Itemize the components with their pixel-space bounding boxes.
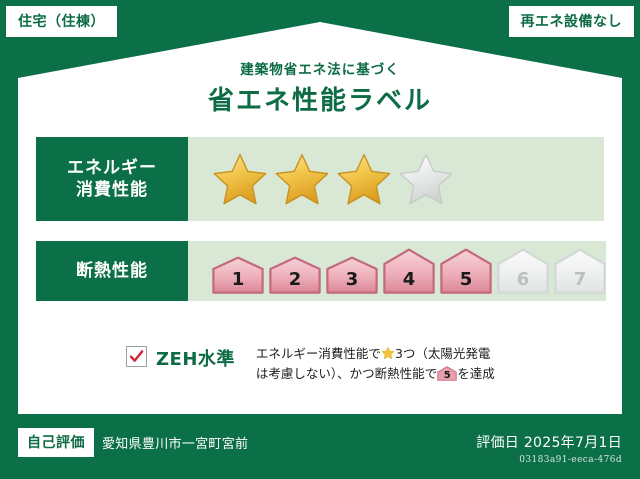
- zeh-desc-part1: エネルギー消費性能で: [256, 346, 381, 361]
- footer-left: 自己評価 愛知県豊川市一宮町宮前: [18, 428, 248, 457]
- energy-performance-label: 住宅（住棟） 再エネ設備なし 建築物省エネ法に基づく 省エネ性能ラベル エネルギ…: [0, 0, 640, 479]
- energy-label-line1: エネルギー: [67, 157, 157, 179]
- inline-badge-number: 5: [437, 371, 457, 381]
- insulation-level-badge: 6: [497, 248, 549, 294]
- insulation-level-badge: 2: [269, 256, 321, 294]
- zeh-desc-part3: を達成: [457, 366, 495, 381]
- footer-right: 評価日 2025年7月1日 03183a91-eeca-476d: [476, 432, 622, 465]
- insulation-performance-row: 断熱性能 1234567: [36, 241, 604, 301]
- star-icon-empty: [398, 152, 454, 206]
- energy-performance-row: エネルギー 消費性能: [36, 137, 604, 221]
- page-title: 省エネ性能ラベル: [0, 80, 640, 117]
- inline-insulation-badge: 5: [437, 366, 457, 381]
- renewable-energy-tag: 再エネ設備なし: [509, 6, 635, 37]
- house-badge-icon: [383, 248, 435, 294]
- insulation-level-badge: 3: [326, 256, 378, 294]
- building-type-tag: 住宅（住棟）: [6, 6, 117, 37]
- zeh-description: エネルギー消費性能で 3つ（太陽光発電 は考慮しない）、かつ断熱性能で 5 を達…: [256, 344, 495, 385]
- insulation-level-scale: 1234567: [212, 248, 606, 294]
- house-badge-icon: [269, 256, 321, 294]
- star-rating: [212, 152, 454, 206]
- house-badge-icon: [554, 248, 606, 294]
- document-id: 03183a91-eeca-476d: [476, 455, 622, 465]
- inline-star-icon: [381, 346, 395, 360]
- self-evaluation-badge: 自己評価: [18, 428, 94, 457]
- check-icon: [129, 349, 144, 364]
- star-icon-filled: [212, 152, 268, 206]
- insulation-level-badge: 1: [212, 256, 264, 294]
- property-address: 愛知県豊川市一宮町宮前: [102, 433, 248, 452]
- star-icon-filled: [336, 152, 392, 206]
- house-badge-icon: [497, 248, 549, 294]
- house-badge-icon: [440, 248, 492, 294]
- star-icon-filled: [274, 152, 330, 206]
- energy-performance-label-cell: エネルギー 消費性能: [36, 137, 188, 221]
- zeh-title: ZEH水準: [156, 345, 235, 371]
- insulation-level-badge: 5: [440, 248, 492, 294]
- insulation-level-badge: 7: [554, 248, 606, 294]
- energy-performance-value-cell: [188, 137, 604, 221]
- house-badge-icon: [212, 256, 264, 294]
- insulation-level-badge: 4: [383, 248, 435, 294]
- label-subtitle: 建築物省エネ法に基づく: [0, 58, 640, 78]
- insulation-label: 断熱性能: [76, 260, 148, 282]
- zeh-checkbox[interactable]: [126, 346, 147, 367]
- zeh-desc-stars: 3つ（太陽光発電: [395, 346, 490, 361]
- insulation-performance-label-cell: 断熱性能: [36, 241, 188, 301]
- house-badge-icon: [326, 256, 378, 294]
- zeh-standard-block: ZEH水準 エネルギー消費性能で 3つ（太陽光発電 は考慮しない）、かつ断熱性能…: [126, 344, 495, 385]
- evaluation-date: 評価日 2025年7月1日: [476, 432, 622, 452]
- insulation-performance-value-cell: 1234567: [188, 241, 606, 301]
- zeh-desc-part2: は考慮しない）、かつ断熱性能で: [256, 366, 437, 381]
- energy-label-line2: 消費性能: [76, 179, 148, 201]
